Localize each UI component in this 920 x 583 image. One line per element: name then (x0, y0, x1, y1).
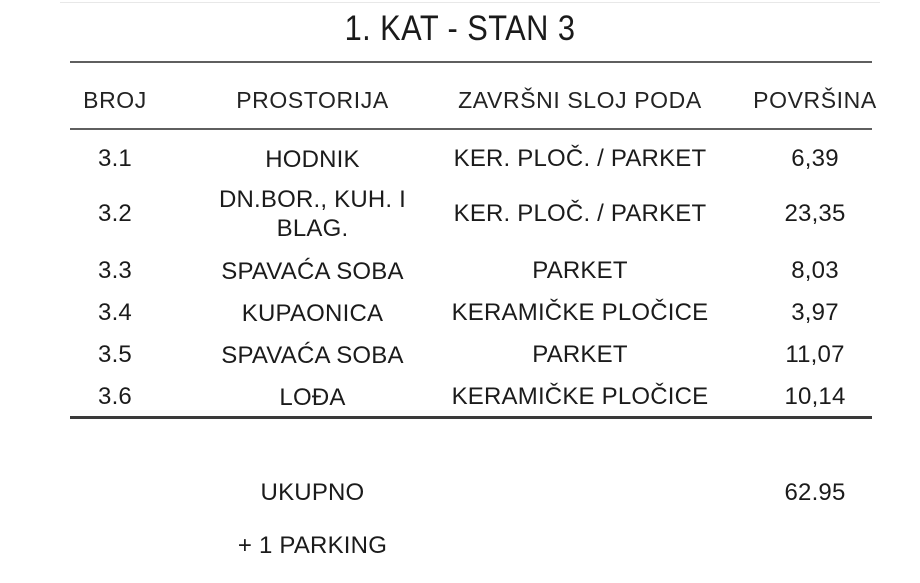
cell-broj: 3.4 (98, 299, 132, 326)
cell-povrsina: 8,03 (791, 257, 839, 284)
table-row: 3.2 DN.BOR., KUH. I BLAG. KER. PLOČ. / P… (0, 183, 920, 245)
cell-zavrsni-sloj-poda: KER. PLOČ. / PARKET (454, 145, 707, 172)
cell-broj: 3.6 (98, 383, 132, 410)
column-header-povrsina: POVRŠINA (753, 87, 877, 113)
cell-broj: 3.3 (98, 257, 132, 284)
cell-prostorija: KUPAONICA (242, 300, 383, 327)
cell-zavrsni-sloj-poda: PARKET (532, 257, 627, 284)
cell-povrsina: 11,07 (785, 341, 844, 368)
cell-prostorija: DN.BOR., KUH. I BLAG. (219, 186, 406, 242)
table-row: 3.5 SPAVAĆA SOBA PARKET 11,07 (0, 336, 920, 374)
table-row: 3.3 SPAVAĆA SOBA PARKET 8,03 (0, 252, 920, 290)
cell-zavrsni-sloj-poda: KERAMIČKE PLOČICE (452, 299, 709, 326)
floorplan-area-table: 1. KAT - STAN 3 BROJ PROSTORIJA ZAVRŠNI … (0, 0, 920, 583)
table-total-row: UKUPNO 62.95 (0, 474, 920, 512)
column-header-broj: BROJ (83, 87, 147, 113)
cell-zavrsni-sloj-poda: PARKET (532, 341, 627, 368)
cell-broj: 3.5 (98, 341, 132, 368)
cell-prostorija: SPAVAĆA SOBA (221, 342, 403, 369)
cell-zavrsni-sloj-poda: KERAMIČKE PLOČICE (452, 383, 709, 410)
cell-povrsina: 23,35 (784, 200, 845, 227)
cell-prostorija: HODNIK (265, 146, 360, 173)
cell-broj: 3.2 (98, 200, 132, 227)
total-value: 62.95 (784, 479, 845, 506)
cell-broj: 3.1 (98, 145, 132, 172)
column-header-zavrsni-sloj-poda: ZAVRŠNI SLOJ PODA (458, 87, 702, 113)
table-row: 3.1 HODNIK KER. PLOČ. / PARKET 6,39 (0, 140, 920, 178)
table-header-bottom-rule (70, 128, 872, 130)
table-header-row: BROJ PROSTORIJA ZAVRŠNI SLOJ PODA POVRŠI… (0, 80, 920, 120)
cell-povrsina: 3,97 (791, 299, 839, 326)
table-row: 3.4 KUPAONICA KERAMIČKE PLOČICE 3,97 (0, 294, 920, 332)
table-header-top-rule (70, 61, 872, 63)
column-header-prostorija: PROSTORIJA (236, 87, 389, 113)
parking-note: + 1 PARKING (238, 532, 387, 559)
cell-prostorija: SPAVAĆA SOBA (221, 258, 403, 285)
table-row: 3.6 LOĐA KERAMIČKE PLOČICE 10,14 (0, 378, 920, 416)
parking-note-row: + 1 PARKING (0, 527, 920, 565)
total-label: UKUPNO (261, 479, 365, 506)
table-body-bottom-rule (70, 416, 872, 419)
top-hairline-divider (60, 2, 880, 3)
page-title: 1. KAT - STAN 3 (55, 8, 865, 50)
cell-prostorija: LOĐA (279, 384, 345, 411)
cell-povrsina: 10,14 (784, 383, 845, 410)
cell-zavrsni-sloj-poda: KER. PLOČ. / PARKET (454, 200, 707, 227)
cell-povrsina: 6,39 (791, 145, 839, 172)
